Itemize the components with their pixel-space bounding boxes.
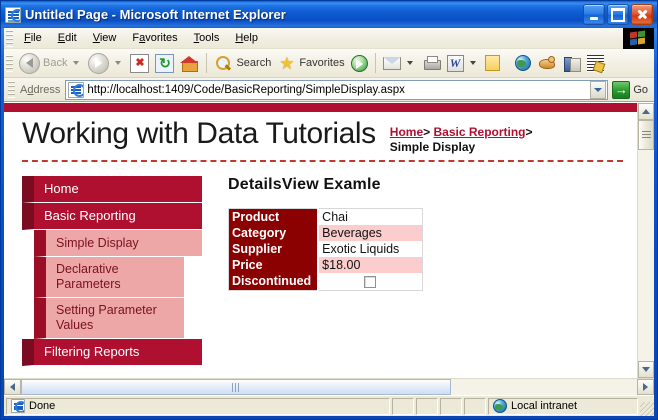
print-button[interactable]: [419, 52, 444, 75]
page-body: Home Basic Reporting Simple Display Decl…: [4, 162, 637, 366]
breadcrumb-separator-2: >: [526, 125, 533, 139]
favorites-button[interactable]: Favorites: [274, 52, 347, 75]
back-button-label: Back: [43, 57, 67, 69]
media-button[interactable]: [348, 52, 371, 75]
stop-icon: [130, 54, 149, 73]
search-button[interactable]: Search: [211, 52, 274, 75]
details-row-value-category: Beverages: [318, 225, 422, 241]
table-row: Discontinued: [229, 273, 423, 291]
scroll-up-button[interactable]: [638, 103, 654, 120]
table-row: Product Chai: [229, 209, 423, 226]
sidebar-item-basic-reporting[interactable]: Basic Reporting: [22, 203, 202, 230]
research-button[interactable]: [559, 52, 584, 75]
messenger-icon: [537, 54, 556, 73]
vertical-scrollbar[interactable]: [637, 103, 654, 378]
browser-toolbar: Back Search Favorites: [4, 49, 654, 78]
content-heading: DetailsView Examle: [228, 176, 627, 194]
edit-chevron-down-icon[interactable]: [470, 61, 476, 65]
main-content: DetailsView Examle Product Chai Category…: [202, 176, 637, 366]
globe-icon: [493, 399, 507, 413]
menu-item-edit[interactable]: Edit: [50, 30, 85, 46]
favorites-button-label: Favorites: [299, 57, 344, 69]
status-bar: Done Local intranet: [4, 395, 654, 416]
table-row: Supplier Exotic Liquids: [229, 241, 423, 257]
scroll-grip-icon: [232, 383, 241, 392]
menu-gripper[interactable]: [6, 30, 13, 47]
mail-chevron-down-icon[interactable]: [407, 61, 413, 65]
chevron-left-icon: [10, 383, 15, 391]
sidebar-nav: Home Basic Reporting Simple Display Decl…: [22, 176, 202, 366]
horizontal-scroll-thumb[interactable]: [21, 379, 451, 395]
details-row-value-supplier: Exotic Liquids: [318, 241, 422, 257]
refresh-button[interactable]: [152, 52, 177, 75]
page-top-accent-bar: [4, 103, 637, 112]
page-viewport: Working with Data Tutorials Home> Basic …: [4, 102, 654, 378]
title-bar: Untitled Page - Microsoft Internet Explo…: [1, 1, 657, 28]
details-row-label-price: Price: [229, 257, 319, 273]
close-button[interactable]: [631, 4, 653, 25]
breadcrumb-current: Simple Display: [390, 140, 533, 155]
sidebar-item-declarative-parameters[interactable]: Declarative Parameters: [34, 257, 184, 298]
details-row-value-price: $18.00: [318, 257, 422, 273]
research-icon: [562, 54, 581, 73]
menu-item-file[interactable]: File: [16, 30, 50, 46]
details-row-label-discontinued: Discontinued: [229, 273, 319, 291]
table-row: Price $18.00: [229, 257, 423, 273]
go-arrow-icon: [612, 81, 630, 99]
status-pane-3: [440, 398, 462, 415]
vertical-scroll-thumb[interactable]: [638, 120, 654, 150]
status-message-pane: Done: [6, 398, 390, 415]
media-icon: [351, 55, 368, 72]
status-zone-pane[interactable]: Local intranet: [488, 398, 638, 415]
scroll-down-button[interactable]: [638, 361, 654, 378]
messenger-button[interactable]: [534, 52, 559, 75]
sidebar-item-filtering-reports[interactable]: Filtering Reports: [22, 339, 202, 366]
menu-item-view[interactable]: View: [85, 30, 125, 46]
details-row-value-discontinued: [318, 273, 422, 291]
browser-window: Untitled Page - Microsoft Internet Explo…: [0, 0, 658, 420]
sidebar-item-setting-parameter-values[interactable]: Setting Parameter Values: [34, 298, 184, 339]
favorites-star-icon: [277, 54, 296, 73]
scroll-left-button[interactable]: [4, 379, 21, 395]
chevron-right-icon: [643, 383, 648, 391]
mail-icon: [383, 57, 401, 70]
discontinued-checkbox[interactable]: [364, 276, 376, 288]
table-row: Category Beverages: [229, 225, 423, 241]
details-row-value-product: Chai: [318, 209, 422, 226]
home-button[interactable]: [177, 52, 202, 75]
edit-word-button[interactable]: [444, 52, 482, 75]
back-history-chevron-down-icon[interactable]: [73, 61, 79, 65]
status-zone-label: Local intranet: [511, 400, 577, 412]
minimize-button[interactable]: [583, 4, 605, 25]
toolbar-separator-2: [375, 53, 376, 73]
window-client-area: File Edit View Favorites Tools Help Back: [4, 28, 654, 416]
address-bar: Address http://localhost:1409/Code/Basic…: [4, 78, 654, 102]
address-gripper[interactable]: [8, 81, 15, 98]
address-label: Address: [18, 84, 65, 96]
chevron-down-icon: [642, 367, 650, 372]
search-button-label: Search: [236, 57, 271, 69]
chevron-up-icon: [642, 109, 650, 114]
toolbar-separator: [206, 53, 207, 73]
page-header: Working with Data Tutorials Home> Basic …: [4, 112, 637, 155]
menu-item-favorites[interactable]: Favorites: [124, 30, 185, 46]
address-url-text: http://localhost:1409/Code/BasicReportin…: [87, 84, 590, 96]
globe-icon: [515, 55, 531, 71]
go-button[interactable]: Go: [608, 81, 652, 99]
window-title: Untitled Page - Microsoft Internet Explo…: [25, 7, 583, 22]
status-pane-4: [464, 398, 486, 415]
print-icon: [422, 54, 441, 73]
address-input[interactable]: http://localhost:1409/Code/BasicReportin…: [65, 80, 608, 100]
web-page: Working with Data Tutorials Home> Basic …: [4, 103, 637, 378]
page-title: Working with Data Tutorials: [22, 117, 376, 151]
vertical-scroll-track[interactable]: [638, 150, 654, 361]
back-button[interactable]: Back: [16, 52, 85, 75]
back-arrow-icon: [19, 53, 40, 74]
window-icon: [5, 7, 21, 23]
breadcrumb-link-basic-reporting[interactable]: Basic Reporting: [434, 125, 526, 139]
toolbar-gripper[interactable]: [6, 55, 13, 72]
search-icon: [214, 54, 233, 73]
edit-word-icon: [447, 55, 464, 72]
details-view-table: Product Chai Category Beverages Supplier…: [228, 208, 423, 291]
horizontal-scrollbar[interactable]: [4, 378, 654, 395]
breadcrumb-link-home[interactable]: Home: [390, 125, 423, 139]
mail-button[interactable]: [380, 52, 419, 75]
status-pane-1: [392, 398, 414, 415]
breadcrumb: Home> Basic Reporting> Simple Display: [390, 125, 533, 155]
edit-code-button[interactable]: [584, 52, 607, 75]
edit-code-icon: [587, 55, 604, 72]
stop-button[interactable]: [127, 52, 152, 75]
status-message: Done: [29, 400, 55, 412]
go-button-label: Go: [633, 84, 648, 96]
details-row-label-product: Product: [229, 209, 319, 226]
menu-bar: File Edit View Favorites Tools Help: [4, 28, 654, 49]
windows-flag-icon: [623, 28, 654, 49]
sidebar-item-home[interactable]: Home: [22, 176, 202, 203]
scroll-grip-icon: [642, 131, 651, 140]
sidebar-item-simple-display[interactable]: Simple Display: [34, 230, 202, 257]
menu-item-help[interactable]: Help: [227, 30, 266, 46]
notes-icon: [485, 55, 500, 71]
details-row-label-category: Category: [229, 225, 319, 241]
address-chevron-down-icon[interactable]: [590, 81, 606, 99]
status-pane-2: [416, 398, 438, 415]
horizontal-scroll-track[interactable]: [451, 379, 637, 395]
window-controls: [583, 4, 655, 25]
forward-arrow-icon: [88, 53, 109, 74]
resize-grip[interactable]: [640, 402, 654, 416]
breadcrumb-separator-1: >: [423, 125, 430, 139]
forward-history-chevron-down-icon[interactable]: [115, 61, 121, 65]
scroll-right-button[interactable]: [637, 379, 654, 395]
status-page-icon: [11, 399, 25, 413]
forward-button[interactable]: [85, 52, 127, 75]
details-row-label-supplier: Supplier: [229, 241, 319, 257]
notes-button[interactable]: [482, 52, 503, 75]
menu-item-tools[interactable]: Tools: [186, 30, 228, 46]
refresh-icon: [155, 54, 174, 73]
discuss-button[interactable]: [512, 52, 534, 75]
home-icon: [180, 54, 199, 73]
page-favicon-icon: [68, 82, 84, 98]
maximize-button[interactable]: [607, 4, 629, 25]
